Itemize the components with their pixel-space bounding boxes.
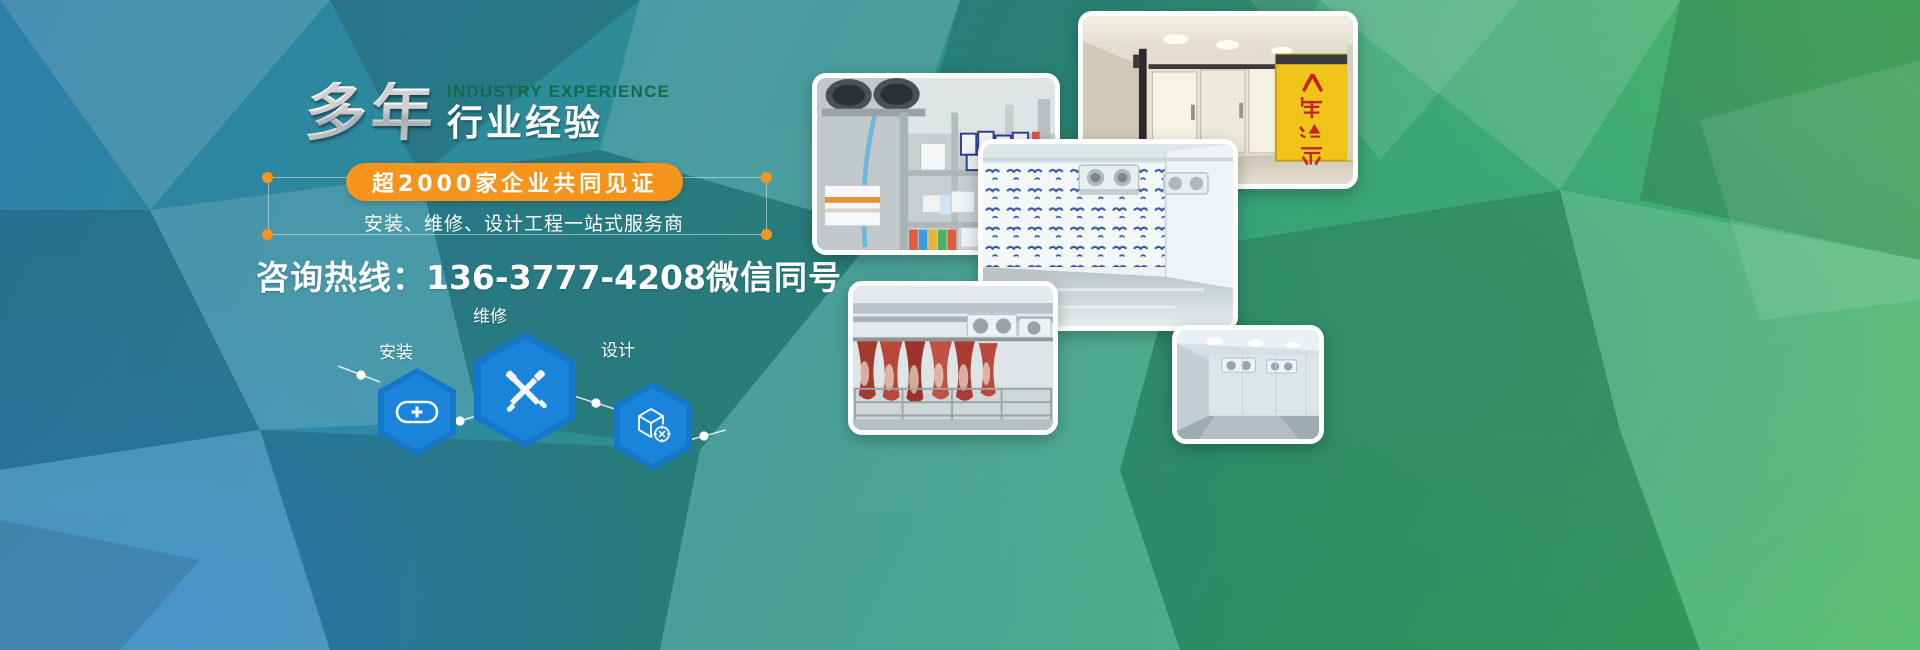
wrench-screwdriver-icon	[497, 362, 553, 418]
bracket-dot-top-left	[262, 172, 273, 183]
bracket-left-line	[268, 177, 269, 235]
witness-badge: 超2000家企业共同见证	[346, 163, 683, 201]
photo-cold-storage-meat-hanging	[848, 281, 1058, 435]
headline-row: 多年 INDUSTRY EXPERIENCE 行业经验	[305, 82, 670, 144]
hotline-line: 咨询热线：136-3777-4208微信同号	[256, 251, 842, 299]
witness-badge-label: 超2000家企业共同见证	[372, 166, 657, 198]
photo-collage	[800, 0, 1920, 650]
headline-secondary: 行业经验	[447, 106, 670, 142]
photo-cold-storage-empty-room	[1172, 325, 1324, 444]
headline-right-column: INDUSTRY EXPERIENCE 行业经验	[447, 82, 670, 144]
bracket-dot-bottom-right	[761, 229, 772, 240]
bracket-dot-top-right	[761, 172, 772, 183]
process-label-design: 设计	[548, 336, 688, 361]
bracket-dot-bottom-left	[262, 229, 273, 240]
process-hex-group: 安装 维修	[330, 296, 750, 466]
headline-block: 多年 INDUSTRY EXPERIENCE 行业经验 超2000家企业共同见证…	[0, 0, 800, 650]
headline-primary: 多年	[303, 82, 438, 144]
cube-gear-icon	[631, 404, 675, 448]
headline-english: INDUSTRY EXPERIENCE	[447, 82, 670, 102]
bracket-right-line	[766, 177, 767, 235]
process-label-install: 安装	[326, 338, 466, 363]
service-subtitle: 安装、维修、设计工程一站式服务商	[364, 209, 684, 236]
photo-cold-storage-empty-room-image	[1177, 330, 1319, 441]
promo-banner: 多年 INDUSTRY EXPERIENCE 行业经验 超2000家企业共同见证…	[0, 0, 1920, 650]
hotline-label: 咨询热线：	[256, 258, 426, 297]
hotline-number[interactable]: 136-3777-4208	[426, 258, 706, 297]
process-hex-install[interactable]	[378, 368, 456, 456]
process-hex-design[interactable]	[614, 382, 692, 470]
plus-install-icon	[394, 397, 440, 427]
process-label-repair: 维修	[420, 302, 560, 327]
photo-cold-storage-meat-hanging-image	[853, 286, 1053, 433]
